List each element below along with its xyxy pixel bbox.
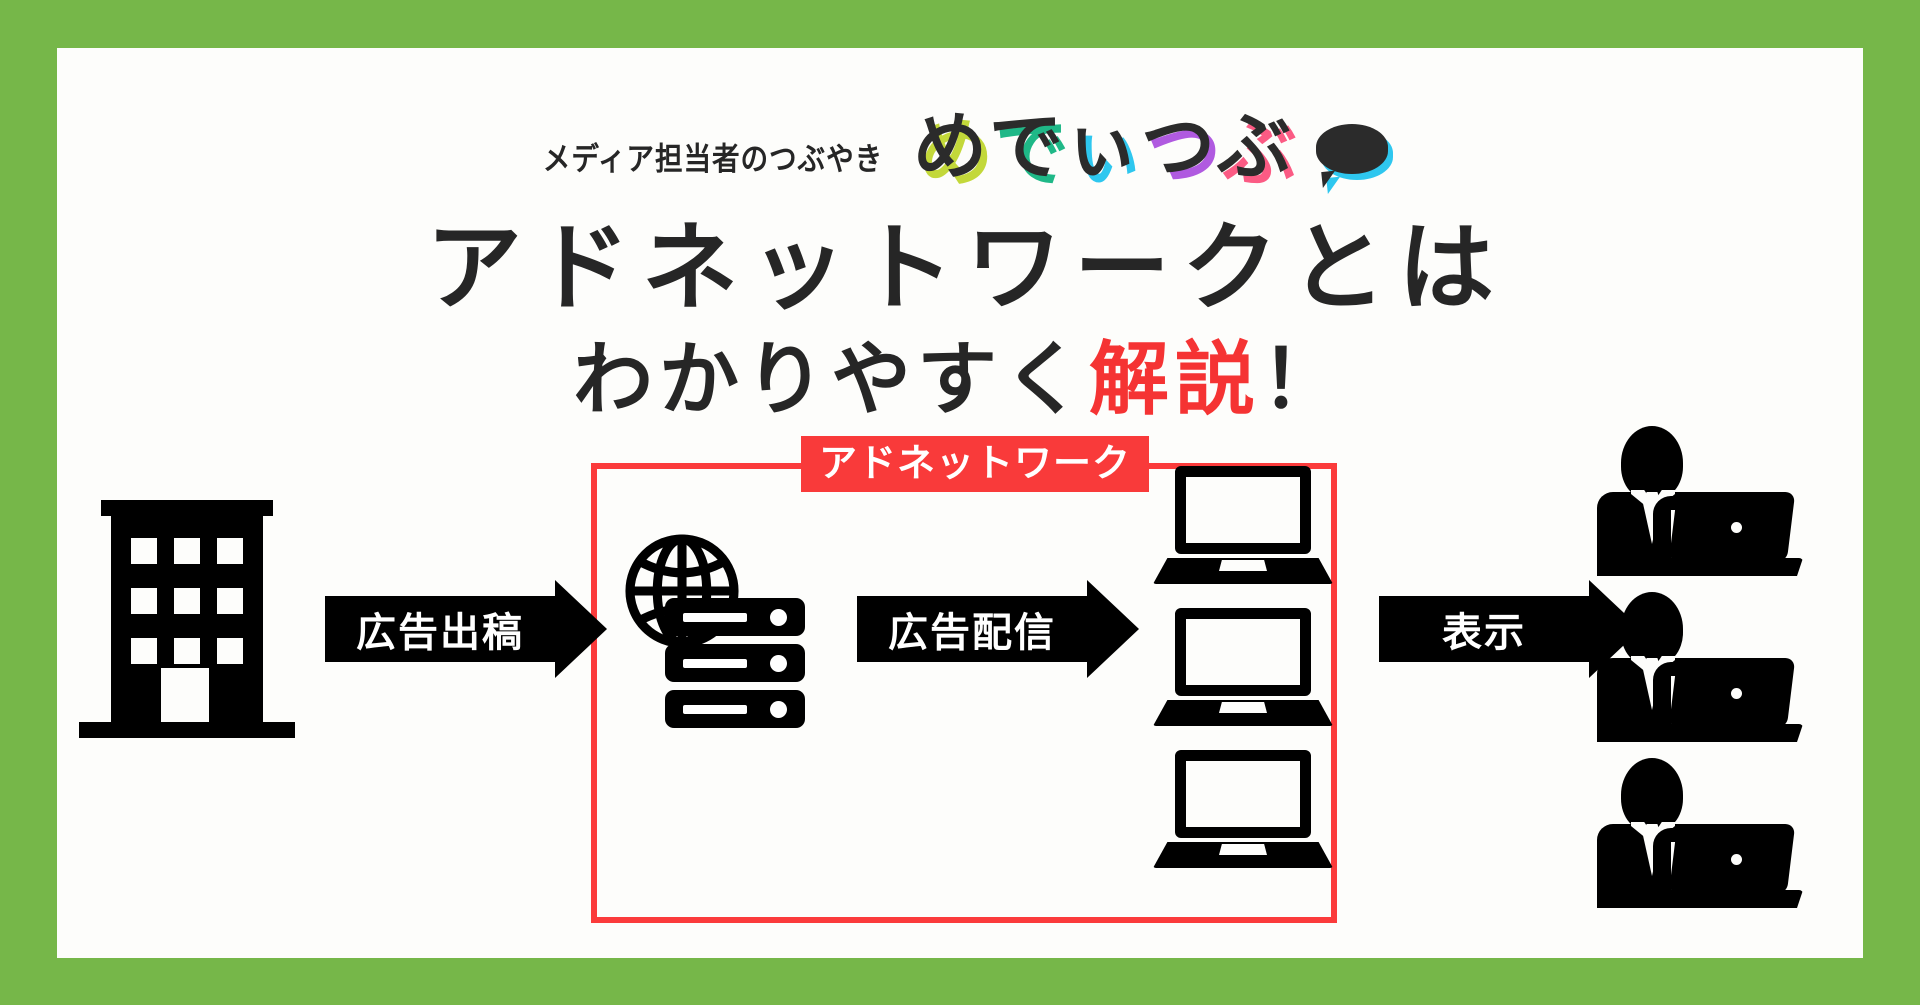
laptop-icon [1153,608,1333,728]
office-building-icon [79,500,295,760]
adnetwork-box-label: アドネットワーク [801,436,1149,492]
site-brand-logo: めでぃつぶ [912,110,1292,184]
site-tagline: メディア担当者のつぶやき [543,133,883,186]
server-unit [665,598,805,636]
brand-char-4: ぶ [1216,110,1292,184]
laptop-stack [1153,466,1343,886]
content-card: メディア担当者のつぶやき めでぃつぶ アドネットワークとは わかりやすく解説！ … [57,48,1863,958]
speech-bubble-icon [1316,124,1392,182]
brand-char-2: ぃ [1064,110,1140,184]
ad-network-diagram: アドネットワーク 広告出稿 [57,448,1863,948]
server-unit [665,690,805,728]
subtitle-plain: わかりやすく [573,333,1089,426]
arrow-ad-delivery-label: 広告配信 [857,596,1087,662]
subtitle-exclamation: ！ [1261,333,1347,426]
arrow-display-label: 表示 [1379,596,1589,662]
site-logo-row: メディア担当者のつぶやき めでぃつぶ [57,110,1863,184]
page-root: メディア担当者のつぶやき めでぃつぶ アドネットワークとは わかりやすく解説！ … [0,0,1920,1005]
server-unit [665,644,805,682]
globe-icon [617,526,747,656]
globe-server-icon [617,526,805,708]
laptop-icon [1153,750,1333,870]
brand-char-1: で [988,110,1064,184]
page-subtitle: わかりやすく解説！ [57,336,1863,424]
page-title: アドネットワークとは [57,216,1863,322]
person-with-laptop-icon [1597,592,1803,740]
laptop-icon [1153,466,1333,586]
arrow-ad-submission-label: 広告出稿 [325,596,555,662]
arrow-ad-delivery: 広告配信 [857,580,1139,678]
audience-group [1597,426,1827,926]
arrow-ad-submission: 広告出稿 [325,580,607,678]
brand-char-0: め [912,110,988,184]
subtitle-accent: 解説 [1089,333,1261,426]
person-with-laptop-icon [1597,426,1803,574]
brand-char-3: つ [1140,110,1216,184]
person-with-laptop-icon [1597,758,1803,906]
